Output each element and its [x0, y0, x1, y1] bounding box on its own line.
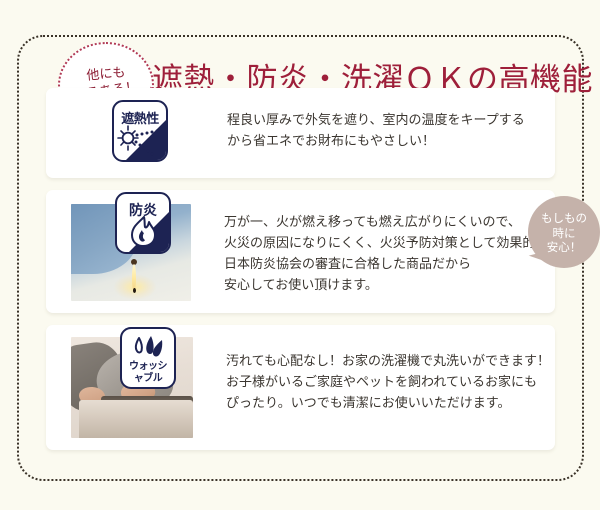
badge-bouen: 防炎	[115, 192, 171, 254]
section-header: 遮熱・防炎・洗濯ＯＫの高機能 他にも あるある！	[0, 26, 600, 88]
badge-shanetsu: 遮熱性	[112, 100, 168, 162]
feature-description-washable: 汚れても心配なし！お家の洗濯機で丸洗いができます！ お子様がいるご家庭やペットを…	[226, 351, 550, 414]
moshimo-speech-bubble: もしもの 時に 安心！	[528, 196, 600, 268]
description-line: ぴったり。いつでも清潔にお使いいただけます。	[226, 393, 550, 414]
description-line: 火災の原因になりにくく、火災予防対策として効果的！	[224, 233, 548, 254]
moshimo-bubble-line-1: もしもの	[528, 211, 600, 226]
badge-label-washable-line-2: ャブル	[122, 373, 174, 385]
moshimo-bubble-line-2: 時に	[528, 226, 600, 241]
description-line: から省エネでお財布にもやさしい！	[227, 131, 525, 152]
moshimo-bubble-line-3: 安心！	[528, 240, 600, 255]
description-line: 日本防炎協会の審査に合格した商品だから	[224, 254, 548, 275]
photo-washer-body	[79, 400, 193, 438]
description-line: 万が一、火が燃え移っても燃え広がりにくいので、	[224, 212, 548, 233]
badge-label-bouen: 防炎	[117, 200, 169, 220]
badge-washable: ウォッシ ャブル	[120, 327, 176, 389]
badge-label-shanetsu: 遮熱性	[114, 108, 166, 127]
description-line: お子様がいるご家庭やペットを飼われているお家にも	[226, 372, 550, 393]
feature-description-shanetsu: 程良い厚みで外気を遮り、室内の温度をキープする から省エネでお財布にもやさしい！	[227, 110, 525, 152]
description-line: 程良い厚みで外気を遮り、室内の温度をキープする	[227, 110, 525, 131]
badge-label-washable-line-1: ウォッシ	[122, 361, 174, 373]
feature-description-bouen: 万が一、火が燃え移っても燃え広がりにくいので、 火災の原因になりにくく、火災予防…	[224, 212, 548, 296]
photo-wick	[133, 288, 136, 293]
description-line: 安心してお使い頂けます。	[224, 275, 548, 296]
photo-flame	[132, 264, 136, 290]
description-line: 汚れても心配なし！お家の洗濯機で丸洗いができます！	[226, 351, 550, 372]
